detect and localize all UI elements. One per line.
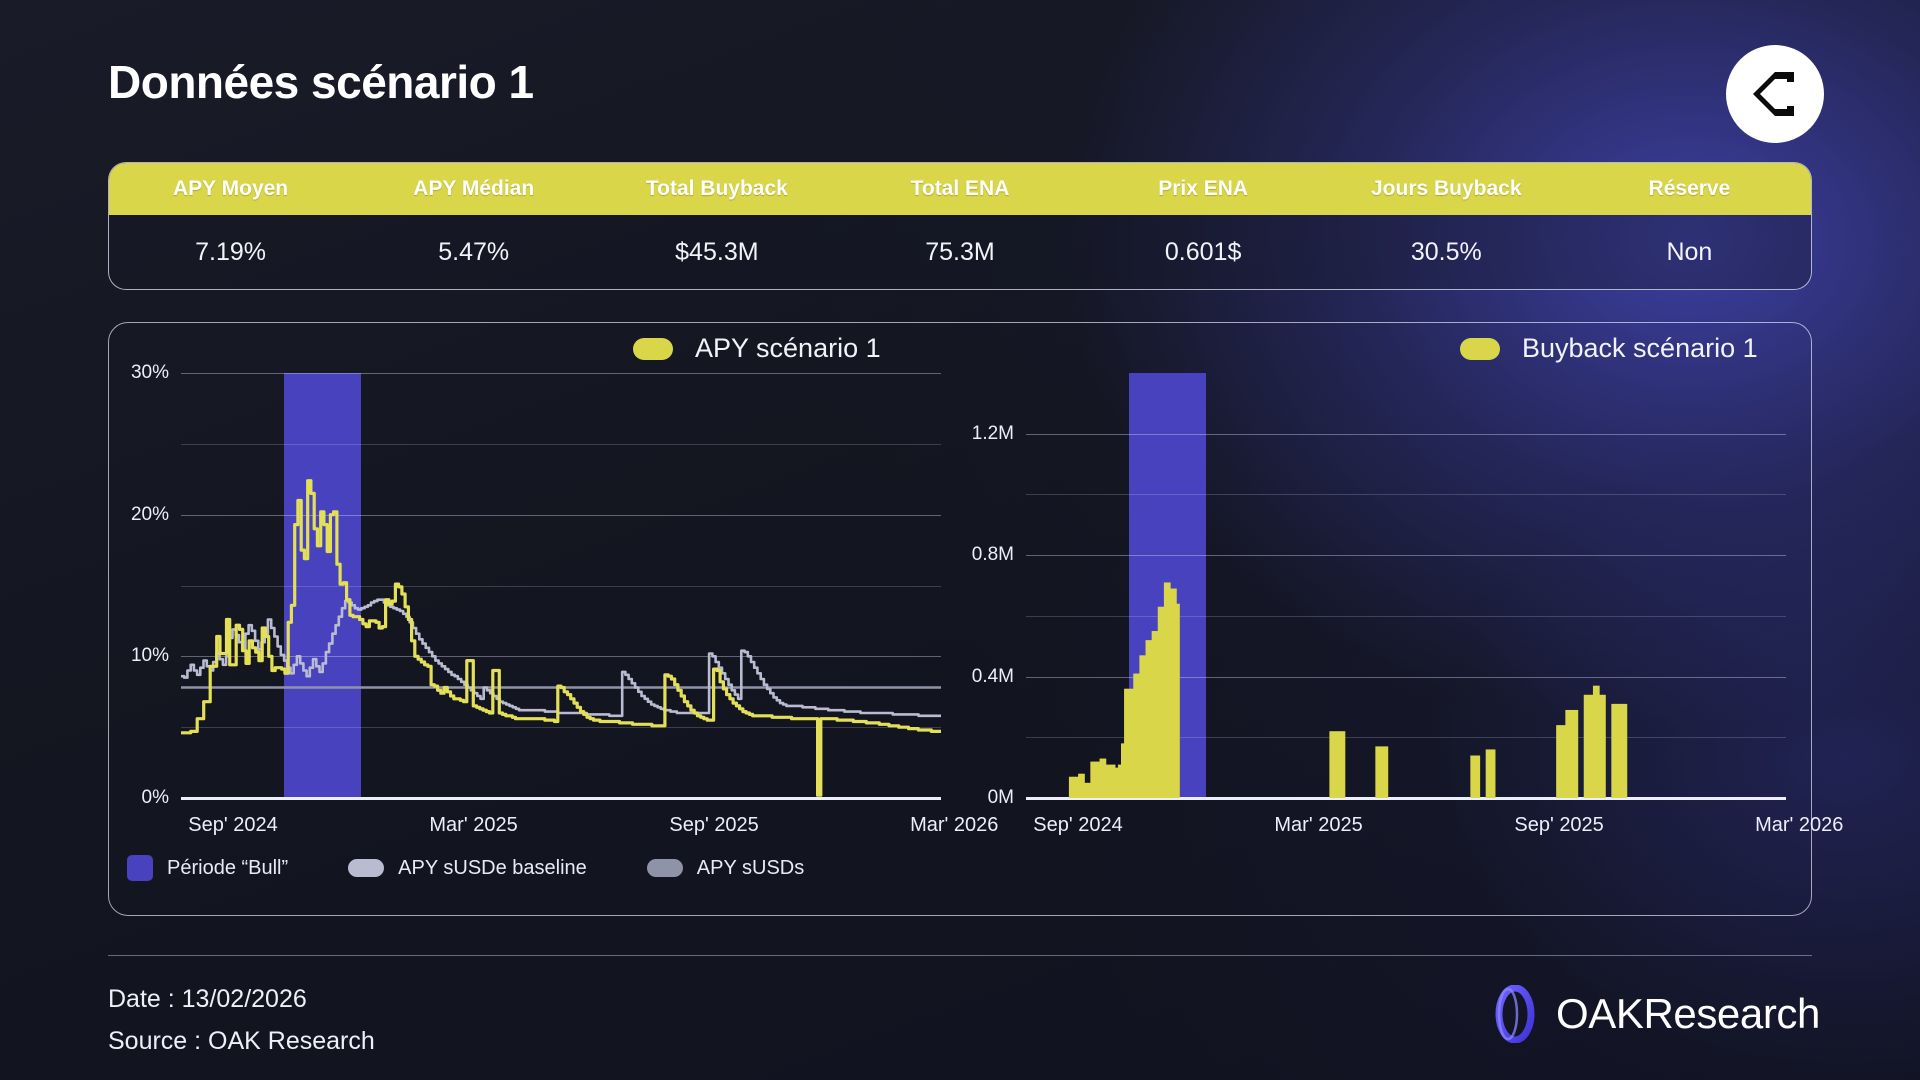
x-axis-tick-label: Sep' 2025 bbox=[1514, 814, 1603, 837]
y-axis-tick-label: 1.2M bbox=[940, 423, 1014, 445]
bar bbox=[1176, 604, 1180, 798]
summary-value: 75.3M bbox=[838, 238, 1081, 267]
oak-ring-icon bbox=[1492, 985, 1538, 1043]
legend-item-bull-period[interactable]: Période “Bull” bbox=[127, 855, 288, 881]
summary-value: 5.47% bbox=[352, 238, 595, 267]
summary-column-header: Total ENA bbox=[838, 177, 1081, 201]
x-axis-tick-label: Mar' 2025 bbox=[1274, 814, 1362, 837]
page-title: Données scénario 1 bbox=[108, 55, 534, 109]
chart-title: APY scénario 1 bbox=[695, 333, 881, 364]
legend-swatch-icon bbox=[127, 855, 153, 881]
oak-wordmark: OAKResearch bbox=[1556, 990, 1820, 1038]
y-axis-tick-label: 0.8M bbox=[940, 544, 1014, 566]
summary-column-header: Total Buyback bbox=[595, 177, 838, 201]
y-axis-tick-label: 0M bbox=[940, 787, 1014, 809]
chart-title: Buyback scénario 1 bbox=[1522, 333, 1758, 364]
x-axis-tick-label: Sep' 2024 bbox=[1033, 814, 1122, 837]
bar bbox=[1602, 695, 1606, 798]
y-axis-tick-label: 0% bbox=[95, 787, 169, 809]
chart-legend: Période “Bull”APY sUSDe baselineAPY sUSD… bbox=[127, 855, 850, 881]
line-series bbox=[181, 481, 941, 796]
chart-title-legend: APY scénario 1 bbox=[633, 333, 881, 364]
footer-source: Source : OAK Research bbox=[108, 1020, 375, 1062]
summary-value: 7.19% bbox=[109, 238, 352, 267]
bar bbox=[1624, 704, 1628, 798]
legend-item-apy-susds[interactable]: APY sUSDs bbox=[647, 857, 804, 880]
oak-word: OAK bbox=[1556, 990, 1644, 1037]
legend-swatch-icon bbox=[1460, 338, 1500, 360]
legend-label: APY sUSDs bbox=[697, 857, 804, 880]
summary-table-value-row: 7.19%5.47%$45.3M75.3M0.601$30.5%Non bbox=[109, 215, 1811, 289]
legend-item-apy-susde-baseline[interactable]: APY sUSDe baseline bbox=[348, 857, 587, 880]
bar bbox=[1575, 710, 1579, 798]
summary-column-header: APY Moyen bbox=[109, 177, 352, 201]
footer-meta: Date : 13/02/2026 Source : OAK Research bbox=[108, 978, 375, 1062]
y-axis-tick-label: 10% bbox=[95, 645, 169, 667]
oak-research-logo: OAKResearch bbox=[1492, 985, 1820, 1043]
legend-swatch-icon bbox=[633, 338, 673, 360]
summary-value: $45.3M bbox=[595, 238, 838, 267]
ethena-logo-icon bbox=[1726, 45, 1824, 143]
legend-label: Période “Bull” bbox=[167, 857, 288, 880]
bar-series-layer bbox=[1026, 373, 1786, 798]
research-word: Research bbox=[1643, 990, 1820, 1037]
summary-column-header: Réserve bbox=[1568, 177, 1811, 201]
y-axis-tick-label: 30% bbox=[95, 362, 169, 384]
summary-value: 30.5% bbox=[1325, 238, 1568, 267]
y-axis-tick-label: 0.4M bbox=[940, 666, 1014, 688]
apy-chart: APY scénario 10%10%20%30%Sep' 2024Mar' 2… bbox=[109, 323, 960, 915]
bar bbox=[1385, 746, 1389, 798]
line-series bbox=[181, 600, 941, 716]
charts-panel: APY scénario 10%10%20%30%Sep' 2024Mar' 2… bbox=[108, 322, 1812, 916]
summary-column-header: APY Médian bbox=[352, 177, 595, 201]
bar bbox=[1476, 756, 1480, 799]
legend-swatch-icon bbox=[348, 859, 384, 877]
summary-table-header-row: APY MoyenAPY MédianTotal BuybackTotal EN… bbox=[109, 163, 1811, 215]
summary-column-header: Prix ENA bbox=[1082, 177, 1325, 201]
chart-title-legend: Buyback scénario 1 bbox=[1460, 333, 1758, 364]
x-axis-tick-label: Sep' 2024 bbox=[188, 814, 277, 837]
summary-value: 0.601$ bbox=[1082, 238, 1325, 267]
legend-label: APY sUSDe baseline bbox=[398, 857, 587, 880]
line-series-layer bbox=[181, 373, 941, 798]
bar bbox=[1342, 731, 1346, 798]
buyback-chart: Buyback scénario 10M0.4M0.8M1.2MSep' 202… bbox=[960, 323, 1811, 915]
legend-swatch-icon bbox=[647, 859, 683, 877]
ethena-glyph-icon bbox=[1749, 68, 1801, 120]
x-axis-tick-label: Mar' 2026 bbox=[1755, 814, 1843, 837]
x-axis-tick-label: Sep' 2025 bbox=[669, 814, 758, 837]
footer-date: Date : 13/02/2026 bbox=[108, 978, 375, 1020]
summary-value: Non bbox=[1568, 238, 1811, 267]
footer-divider bbox=[108, 955, 1812, 956]
plot-area bbox=[181, 373, 941, 798]
bar bbox=[1492, 749, 1496, 798]
y-axis-tick-label: 20% bbox=[95, 504, 169, 526]
slide-root: Données scénario 1 APY MoyenAPY MédianTo… bbox=[0, 0, 1920, 1080]
plot-area bbox=[1026, 373, 1786, 798]
x-axis-tick-label: Mar' 2025 bbox=[429, 814, 517, 837]
summary-table: APY MoyenAPY MédianTotal BuybackTotal EN… bbox=[108, 162, 1812, 290]
summary-column-header: Jours Buyback bbox=[1325, 177, 1568, 201]
